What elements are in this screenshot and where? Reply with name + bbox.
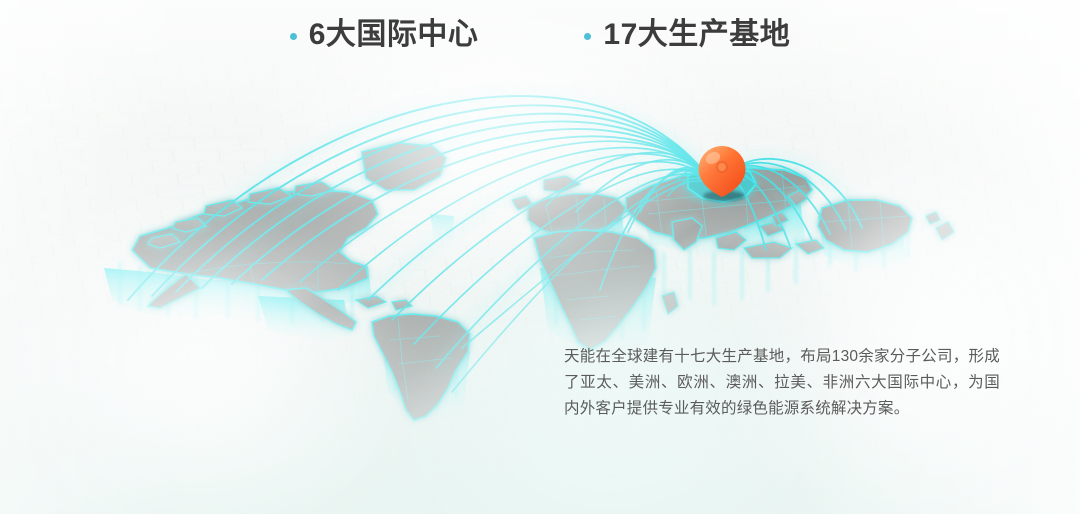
bullet-dot-icon [584, 33, 591, 40]
heading-production-bases-label: 17大生产基地 [603, 20, 790, 50]
continent-north-america [132, 190, 378, 292]
continent-greenland [362, 143, 446, 190]
continent-south-america [372, 314, 470, 420]
china-headquarters-marker[interactable] [699, 146, 746, 202]
continent-australia [818, 200, 912, 252]
continent-central-america [286, 288, 356, 330]
hub-region-highlight [670, 166, 762, 208]
heading-international-centers-label: 6大国际中心 [309, 20, 479, 50]
haze-top [140, 30, 840, 250]
bullet-dot-icon [290, 33, 297, 40]
description-block: 天能在全球建有十七大生产基地，布局130余家分子公司，形成了亚太、美洲、欧洲、澳… [564, 344, 1000, 422]
heading-production-bases: 17大生产基地 [584, 20, 790, 50]
haze-right [700, 170, 1080, 500]
continent-europe [528, 194, 626, 236]
continent-asia [626, 168, 812, 238]
map-pin-icon [699, 146, 746, 197]
heading-international-centers: 6大国际中心 [290, 20, 479, 50]
continent-north-america-west [148, 274, 200, 308]
region-india [672, 218, 702, 250]
heading-row: 6大国际中心 17大生产基地 [0, 20, 1080, 50]
description-paragraph: 天能在全球建有十七大生产基地，布局130余家分子公司，形成了亚太、美洲、欧洲、澳… [564, 344, 1000, 422]
haze-left [0, 210, 460, 510]
hexagon-texture-background [0, 0, 1080, 514]
connection-arcs-glow [128, 96, 862, 368]
global-network-infographic: 6大国际中心 17大生产基地 天能在全球建有十七大生产基地，布局130余家分子公… [0, 0, 1080, 514]
world-map-3d [0, 0, 1080, 514]
continent-africa [534, 230, 656, 350]
